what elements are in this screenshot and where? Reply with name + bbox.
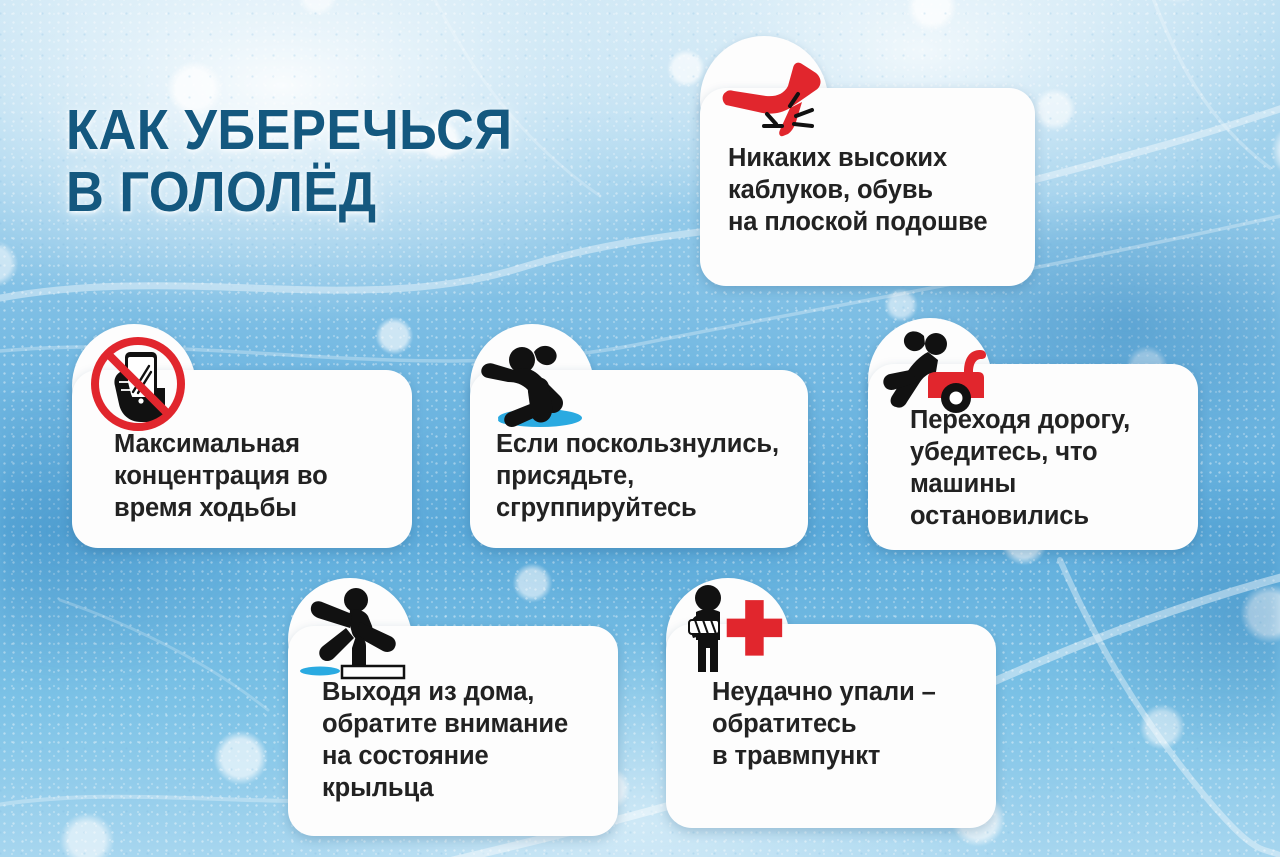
card-text: Выходя из дома, обратите внимание на сос… [322,676,568,805]
card-text-line: каблуков, обувь [728,174,988,206]
red-high-heel-shoe-icon [718,60,828,138]
title-line-1: КАК УБЕРЕЧЬСЯ [66,100,618,162]
page-title: КАК УБЕРЕЧЬСЯ В ГОЛОЛЁД [66,100,618,223]
card-text-line: время ходьбы [114,492,328,524]
no-phone-prohibition-icon [86,332,190,436]
card-trauma-center[interactable]: Неудачно упали – обратитесь в травмпункт [666,578,996,828]
card-text-line: сгруппируйтесь [496,492,779,524]
poster-root: КАК УБЕРЕЧЬСЯ В ГОЛОЛЁД Никаких высоких … [0,0,1280,857]
card-no-phone[interactable]: Максимальная концентрация во время ходьб… [72,324,412,548]
card-text-line: на состояние [322,740,568,772]
balancing-person-on-step-icon [294,582,412,680]
card-text-line: Переходя дорогу, [910,404,1130,436]
card-text-line: присядьте, [496,460,779,492]
card-text-line: Максимальная [114,428,328,460]
card-text-line: Неудачно упали – [712,676,936,708]
title-line-2: В ГОЛОЛЁД [66,162,618,224]
card-text-line: обратите внимание [322,708,568,740]
card-text-line: крыльца [322,772,568,804]
card-text-line: Если поскользнулись, [496,428,779,460]
card-text: Максимальная концентрация во время ходьб… [114,428,328,524]
card-text-line: на плоской подошве [728,206,988,238]
injured-person-medical-cross-icon [684,582,794,678]
slipping-person-icon [478,334,598,434]
card-crossing-road[interactable]: Переходя дорогу, убедитесь, что машины о… [868,318,1198,550]
card-text-line: машины [910,468,1130,500]
card-text: Никаких высоких каблуков, обувь на плоск… [728,142,988,238]
card-text: Переходя дорогу, убедитесь, что машины о… [910,404,1130,533]
card-text-line: остановились [910,500,1130,532]
card-porch-condition[interactable]: Выходя из дома, обратите внимание на сос… [288,578,618,836]
card-if-slipped[interactable]: Если поскользнулись, присядьте, сгруппир… [470,324,808,548]
card-high-heels[interactable]: Никаких высоких каблуков, обувь на плоск… [700,36,1035,286]
card-text-line: Выходя из дома, [322,676,568,708]
card-text-line: в травмпункт [712,740,936,772]
card-text-line: Никаких высоких [728,142,988,174]
card-text-line: убедитесь, что [910,436,1130,468]
card-text: Если поскользнулись, присядьте, сгруппир… [496,428,779,524]
card-text-line: обратитесь [712,708,936,740]
card-text-line: концентрация во [114,460,328,492]
card-text: Неудачно упали – обратитесь в травмпункт [712,676,936,772]
